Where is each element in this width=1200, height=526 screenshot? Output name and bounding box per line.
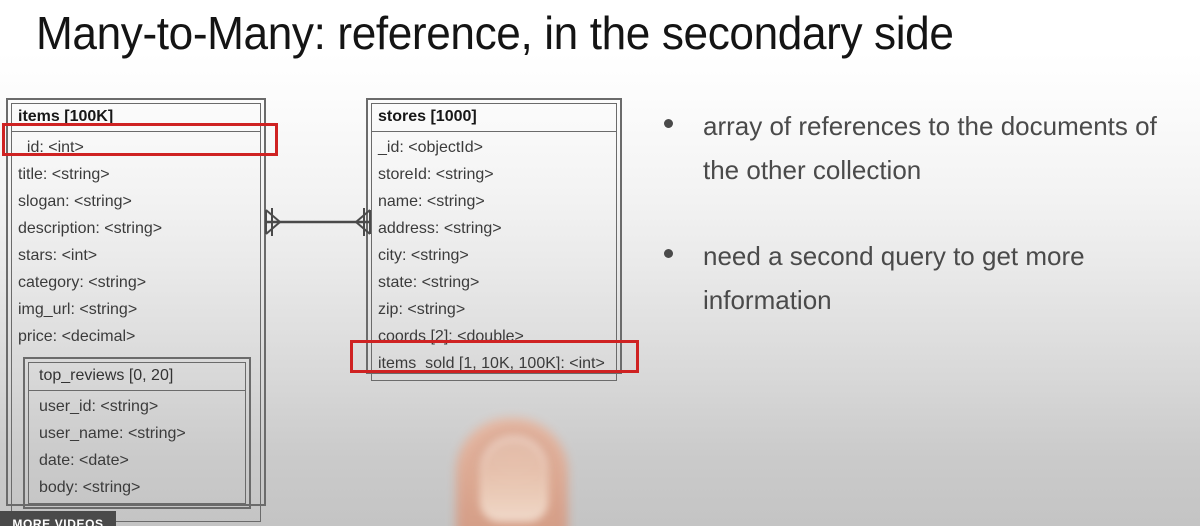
field-items-7: price: <decimal> <box>12 323 260 350</box>
entity-items: items [100K] _id: <int> title: <string> … <box>6 98 266 506</box>
relationship-connector <box>258 200 378 244</box>
entity-top-reviews-header: top_reviews [0, 20] <box>28 362 246 391</box>
field-items-6: img_url: <string> <box>12 296 260 323</box>
entity-top-reviews-fields: user_id: <string> user_name: <string> da… <box>28 391 246 504</box>
entity-top-reviews: top_reviews [0, 20] user_id: <string> us… <box>23 357 251 509</box>
field-stores-1: storeId: <string> <box>372 161 616 188</box>
field-stores-3: address: <string> <box>372 215 616 242</box>
field-top-reviews-1: user_name: <string> <box>29 420 245 447</box>
bullet-dot-icon <box>664 119 673 128</box>
field-stores-7: coords [2]: <double> <box>372 323 616 350</box>
list-item: need a second query to get more informat… <box>664 234 1188 322</box>
field-stores-8: items_sold [1, 10K, 100K]: <int> <box>372 350 616 377</box>
bullet-text: need a second query to get more informat… <box>703 234 1188 322</box>
bullet-dot-icon <box>664 249 673 258</box>
field-stores-0: _id: <objectId> <box>372 134 616 161</box>
list-item: array of references to the documents of … <box>664 104 1188 192</box>
entity-stores-fields: _id: <objectId> storeId: <string> name: … <box>371 132 617 381</box>
field-top-reviews-0: user_id: <string> <box>29 393 245 420</box>
bullet-list: array of references to the documents of … <box>664 104 1188 364</box>
field-items-0: _id: <int> <box>12 134 260 161</box>
field-stores-2: name: <string> <box>372 188 616 215</box>
field-top-reviews-3: body: <string> <box>29 474 245 501</box>
entity-stores-header: stores [1000] <box>371 103 617 132</box>
bullet-text: array of references to the documents of … <box>703 104 1188 192</box>
entity-items-fields: _id: <int> title: <string> slogan: <stri… <box>11 132 261 522</box>
field-top-reviews-2: date: <date> <box>29 447 245 474</box>
field-stores-5: state: <string> <box>372 269 616 296</box>
slide-canvas: Many-to-Many: reference, in the secondar… <box>0 0 1200 526</box>
field-items-3: description: <string> <box>12 215 260 242</box>
entity-items-header: items [100K] <box>11 103 261 132</box>
field-items-5: category: <string> <box>12 269 260 296</box>
field-items-1: title: <string> <box>12 161 260 188</box>
field-stores-4: city: <string> <box>372 242 616 269</box>
field-items-2: slogan: <string> <box>12 188 260 215</box>
entity-stores: stores [1000] _id: <objectId> storeId: <… <box>366 98 622 374</box>
field-items-4: stars: <int> <box>12 242 260 269</box>
fingernail-overlay <box>480 436 548 522</box>
more-videos-button[interactable]: MORE VIDEOS <box>0 511 116 526</box>
page-title: Many-to-Many: reference, in the secondar… <box>36 2 1130 64</box>
field-stores-6: zip: <string> <box>372 296 616 323</box>
